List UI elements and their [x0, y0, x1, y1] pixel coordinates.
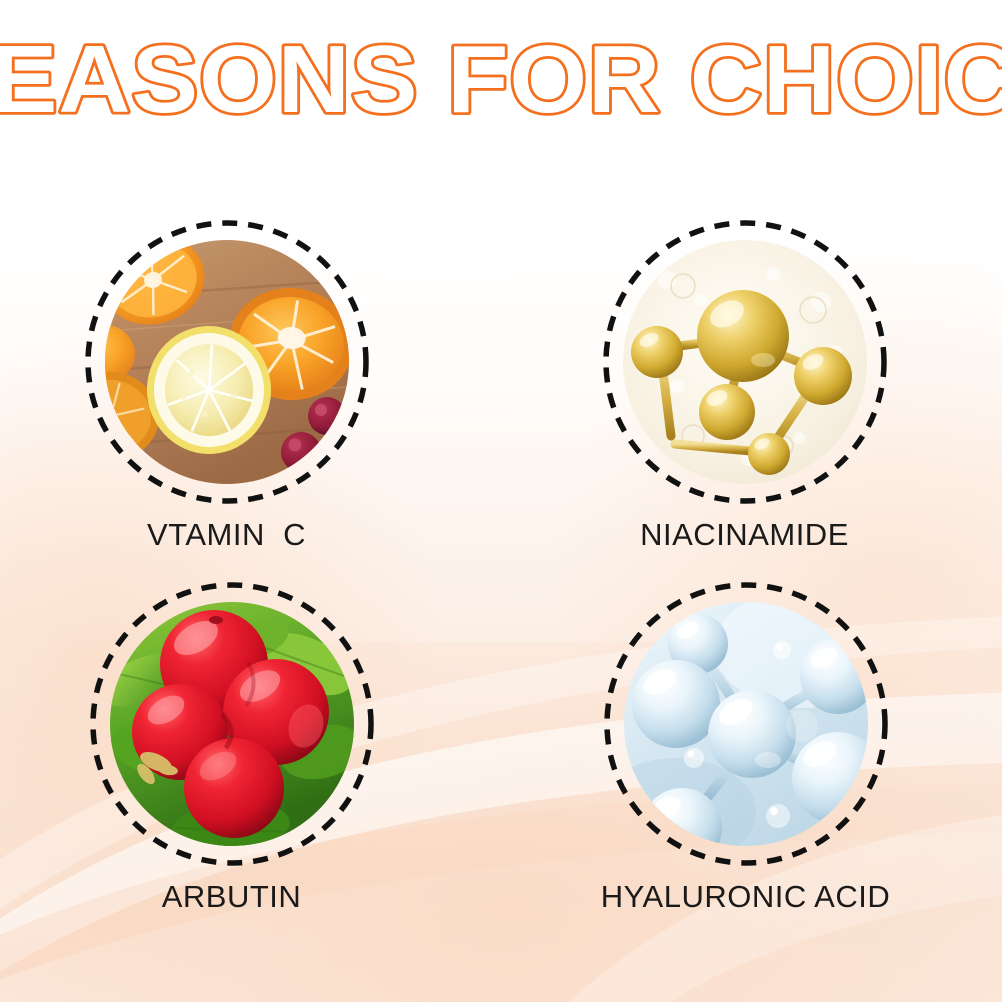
ingredient-label: HYALURONIC ACID: [601, 880, 890, 914]
ingredient-circle: [604, 582, 888, 866]
gold-molecule-photo: [623, 240, 867, 484]
ingredient-grid: VTAMIN C: [0, 220, 1002, 944]
ingredient-label: NIACINAMIDE: [640, 518, 849, 552]
infographic-poster: REASONS FOR CHOICE: [0, 0, 1002, 1002]
ingredient-item-vitamin-c[interactable]: VTAMIN C: [0, 220, 501, 582]
red-berries-photo: [110, 602, 354, 846]
poster-title-text: REASONS FOR CHOICE: [0, 36, 1002, 133]
citrus-fruit-photo: [105, 240, 349, 484]
ingredient-circle: [85, 220, 369, 504]
ingredient-circle: [603, 220, 887, 504]
ingredient-label: ARBUTIN: [162, 880, 302, 914]
ingredient-item-niacinamide[interactable]: NIACINAMIDE: [501, 220, 1002, 582]
ingredient-item-hyaluronic-acid[interactable]: HYALURONIC ACID: [501, 582, 1002, 944]
ingredient-item-arbutin[interactable]: ARBUTIN: [0, 582, 501, 944]
blue-molecule-photo: [624, 602, 868, 846]
ingredient-circle: [90, 582, 374, 866]
ingredient-label: VTAMIN C: [147, 518, 306, 552]
poster-title: REASONS FOR CHOICE: [0, 36, 1002, 136]
